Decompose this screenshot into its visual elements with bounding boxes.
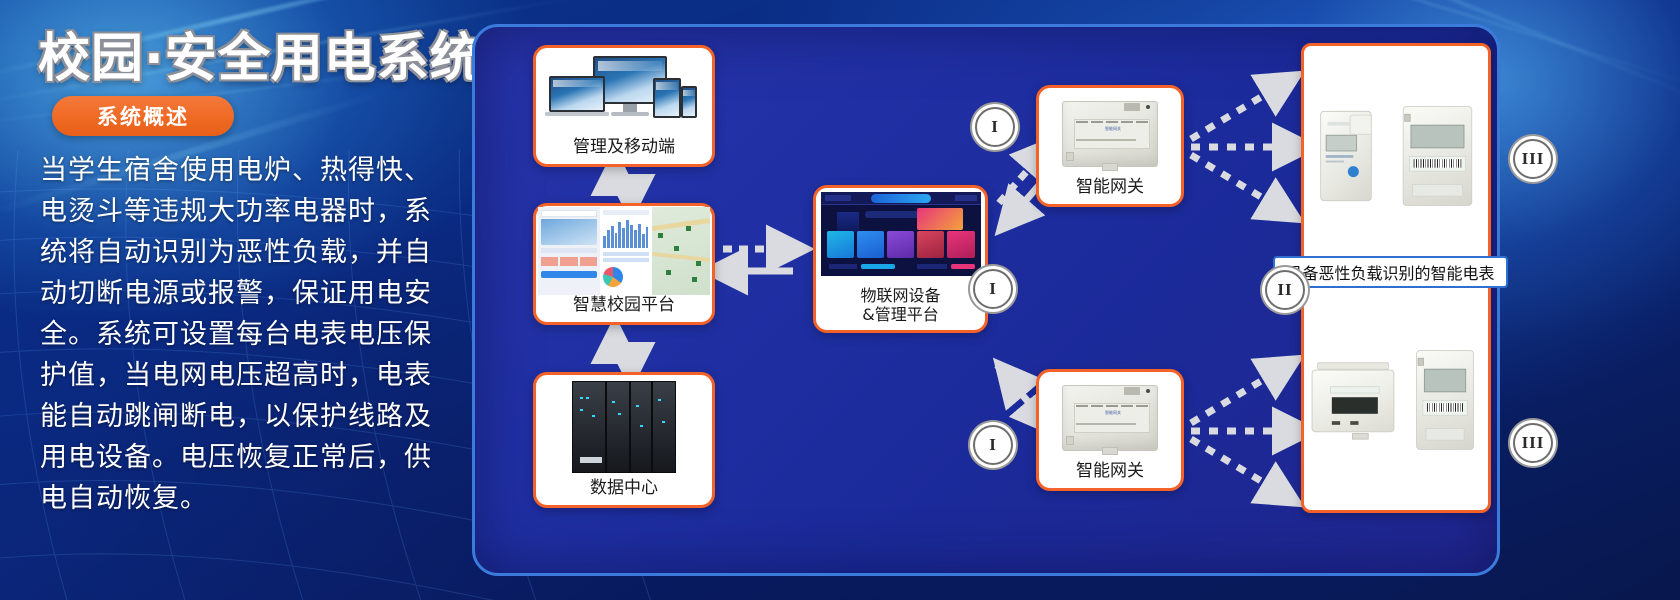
badge-roman-i-datacenter: I (973, 425, 1013, 465)
gateway-device-icon: 智能网关 (1039, 88, 1181, 177)
node-label-line1: 物联网设备 (816, 280, 985, 305)
dashboard-map-icon (536, 206, 712, 295)
node-label: 智慧校园平台 (536, 295, 712, 322)
monitor-stand (623, 104, 637, 112)
phone-icon (681, 86, 697, 118)
node-gateway-top[interactable]: 智能网关 智能网关 (1036, 85, 1184, 207)
connector-gateway-top-meters (1191, 85, 1293, 209)
server-rack-icon (536, 375, 712, 478)
connector-platform-iot (723, 249, 793, 271)
badge-roman-iii-gateway-bottom: III (1513, 423, 1553, 463)
poster-canvas: 校园·安全用电系统 系统概述 当学生宿舍使用电炉、热得快、电烫斗等违规大功率电器… (0, 0, 1680, 600)
connector-gateway-bottom-meters (1191, 369, 1293, 493)
smart-meter-icon (1304, 296, 1488, 504)
node-label: 管理及移动端 (536, 137, 712, 164)
laptop-base (545, 112, 609, 116)
node-iot-platform[interactable]: 物联网设备 &管理平台 (813, 185, 988, 333)
devices-icon (536, 48, 712, 137)
connector-platform-datacenter (615, 343, 631, 363)
architecture-diagram-panel: 管理及移动端 I (472, 24, 1500, 576)
gateway-device-icon: 智能网关 (1039, 372, 1181, 461)
node-gateway-bottom[interactable]: 智能网关 智能网关 (1036, 369, 1184, 491)
node-label: 智能网关 (1039, 177, 1181, 204)
badge-roman-ii-iot: II (1265, 270, 1305, 310)
meter-caption-bar: 具备恶性负载识别的智能电表 (1273, 256, 1508, 288)
overview-paragraph: 当学生宿舍使用电炉、热得快、电烫斗等违规大功率电器时，系统将自动识别为恶性负载，… (40, 150, 432, 519)
node-label-line2: &管理平台 (816, 305, 985, 330)
tablet-icon (653, 78, 681, 118)
node-label: 数据中心 (536, 478, 712, 505)
node-label: 智能网关 (1039, 461, 1181, 488)
smart-meter-icon (1304, 52, 1488, 260)
node-data-center[interactable]: 数据中心 (533, 372, 715, 508)
connector-management-platform (615, 175, 631, 195)
monitor-base (611, 112, 649, 116)
meter-caption-text: 具备恶性负载识别的智能电表 (1286, 260, 1494, 284)
laptop-icon (549, 76, 605, 112)
badge-roman-i-platform: I (973, 269, 1013, 309)
badge-roman-iii-gateway-top: III (1513, 139, 1553, 179)
badge-roman-i-management: I (975, 107, 1015, 147)
section-badge: 系统概述 (52, 96, 234, 136)
iot-dashboard-icon (816, 188, 985, 280)
intro-column: 校园·安全用电系统 系统概述 当学生宿舍使用电炉、热得快、电烫斗等违规大功率电器… (0, 0, 470, 600)
page-title: 校园·安全用电系统 (38, 16, 483, 91)
node-management[interactable]: 管理及移动端 (533, 45, 715, 167)
node-smart-campus-platform[interactable]: 智慧校园平台 (533, 203, 715, 325)
